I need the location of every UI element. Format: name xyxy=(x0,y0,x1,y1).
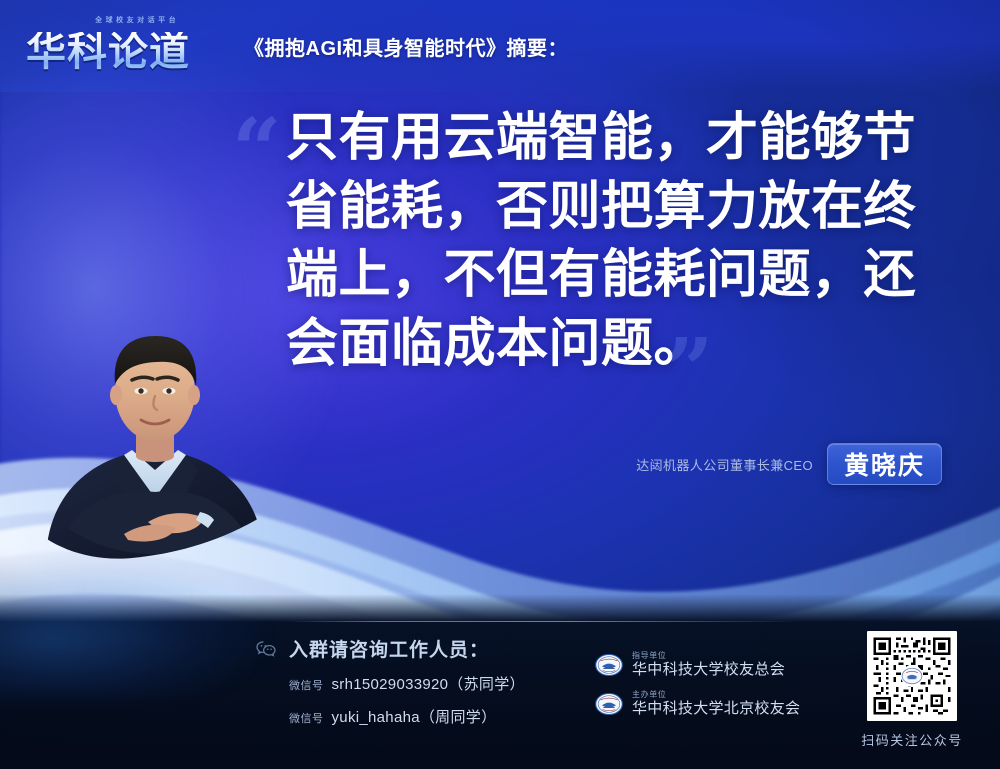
organization-kind: 主办单位 xyxy=(632,691,800,699)
brand-logo[interactable]: 全球校友对话平台 华科论道 xyxy=(26,15,218,77)
organization-name: 华中科技大学北京校友会 xyxy=(632,701,800,717)
contact-row: 微信号 yuki_hahaha（周同学） xyxy=(289,706,555,727)
brand-tagline: 全球校友对话平台 xyxy=(95,15,179,25)
contact-title: 入群请咨询工作人员： xyxy=(289,635,489,662)
contact-value[interactable]: yuki_hahaha（周同学） xyxy=(332,706,497,727)
quote-line: 端上，不但有能耗问题，还 xyxy=(286,241,946,310)
organization-row: 主办单位 华中科技大学北京校友会 xyxy=(595,690,855,718)
page-title: 《拥抱AGI和具身智能时代》摘要： xyxy=(244,32,568,61)
page-header: 全球校友对话平台 华科论道 《拥抱AGI和具身智能时代》摘要： xyxy=(0,0,1000,92)
organization-kind: 指导单位 xyxy=(632,652,785,660)
speaker-role: 达闼机器人公司董事长兼CEO xyxy=(636,455,813,474)
organization-name: 华中科技大学校友总会 xyxy=(632,662,785,678)
organizations-section: 指导单位 华中科技大学校友总会 xyxy=(595,635,855,739)
contact-section: 入群请咨询工作人员： 微信号 srh15029033920（苏同学） 微信号 y… xyxy=(255,635,555,739)
quote-line: 省能耗，否则把算力放在终 xyxy=(286,173,946,242)
quote-line: 只有用云端智能，才能够节 xyxy=(286,104,946,173)
qr-center-logo-icon xyxy=(901,665,923,687)
speaker-name-badge: 黄晓庆 xyxy=(827,443,942,485)
contact-label: 微信号 xyxy=(289,677,324,693)
quote-open-mark: “ xyxy=(232,108,281,194)
page-footer: 入群请咨询工作人员： 微信号 srh15029033920（苏同学） 微信号 y… xyxy=(0,629,1000,769)
quote-close-mark: ” xyxy=(664,328,713,414)
university-seal-icon xyxy=(595,651,623,679)
poster-root: 全球校友对话平台 华科论道 《拥抱AGI和具身智能时代》摘要： “ 只有用云端智… xyxy=(0,0,1000,769)
quote-block: “ 只有用云端智能，才能够节 省能耗，否则把算力放在终 端上，不但有能耗问题，还… xyxy=(232,104,950,379)
speaker-attribution: 达闼机器人公司董事长兼CEO 黄晓庆 xyxy=(636,443,942,485)
qr-code[interactable] xyxy=(867,631,957,721)
qr-section: 扫码关注公众号 xyxy=(856,631,968,749)
university-seal-icon xyxy=(595,690,623,718)
contact-label: 微信号 xyxy=(289,710,324,726)
qr-caption: 扫码关注公众号 xyxy=(856,730,968,749)
contact-row: 微信号 srh15029033920（苏同学） xyxy=(289,673,555,694)
quote-text: 只有用云端智能，才能够节 省能耗，否则把算力放在终 端上，不但有能耗问题，还 会… xyxy=(286,104,946,379)
quote-line: 会面临成本问题。 xyxy=(286,310,946,379)
brand-logo-text: 华科论道 xyxy=(26,32,218,72)
wechat-icon xyxy=(255,638,277,660)
footer-divider xyxy=(288,621,800,622)
contact-value[interactable]: srh15029033920（苏同学） xyxy=(332,673,525,694)
organization-row: 指导单位 华中科技大学校友总会 xyxy=(595,651,855,679)
